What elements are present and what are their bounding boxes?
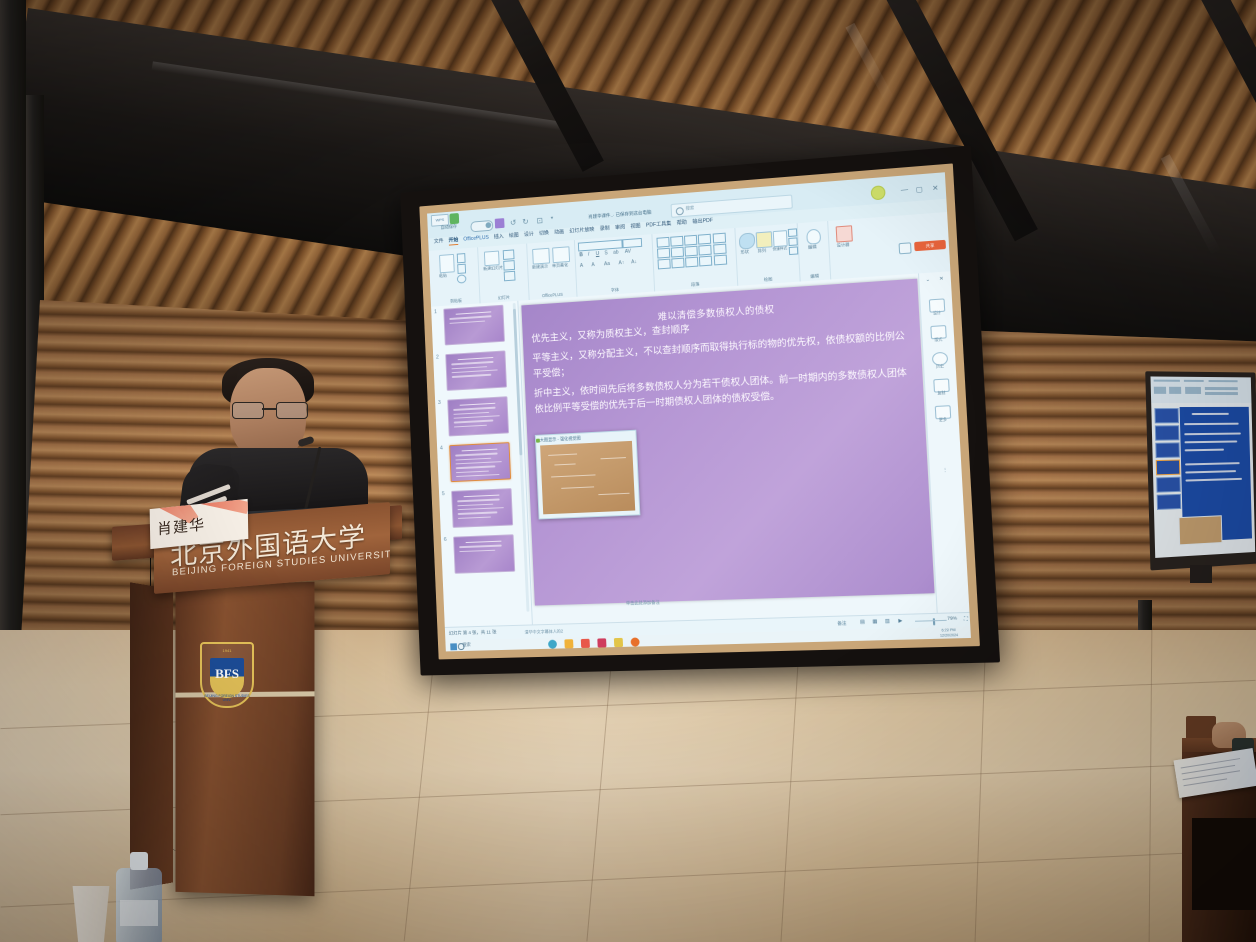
para-more-icon[interactable] (714, 255, 727, 266)
ribbon-group-drawing: 形状 排列 快速样式 绘图 (734, 223, 800, 286)
designer-label: 设计器 (836, 242, 849, 249)
minimize-button[interactable]: — (901, 186, 909, 194)
foreground-desk (1182, 716, 1256, 942)
slide-thumbnail-6[interactable] (453, 534, 515, 573)
cut-icon[interactable] (457, 253, 466, 263)
ribbon-tab-6[interactable]: 切换 (539, 229, 549, 237)
format-painter-icon[interactable] (457, 274, 467, 283)
monitor-overlay-image (1178, 515, 1222, 545)
zoom-slider-track[interactable] (915, 620, 947, 622)
slide-thumbnail-3[interactable] (447, 396, 509, 436)
screen-frame: WPS 自动保存 ↺ ↻ ⊡ ▾ 肖建华课件..· 已保存到这台电脑 (400, 146, 1000, 676)
thumbnail-number: 3 (438, 400, 441, 406)
emblem-caption: BEIJING FOREIGN STUDIES UNIV. (202, 694, 252, 702)
monitor-thumb (1155, 425, 1180, 441)
align-left-icon[interactable] (657, 248, 670, 259)
slide-thumbnail-1[interactable] (443, 305, 505, 346)
lecture-hall-scene: WPS 自动保存 ↺ ↻ ⊡ ▾ 肖建华课件..· 已保存到这台电脑 (0, 0, 1256, 942)
rail-label: 更多 (933, 417, 952, 423)
save-icon[interactable] (495, 218, 505, 228)
notes-toggle[interactable]: 备注 (837, 620, 846, 626)
ribbon-tab-9[interactable]: 录制 (599, 225, 609, 233)
autosave-label: 自动保存 (441, 224, 458, 231)
layout-icon[interactable] (503, 249, 515, 260)
slide-thumbnail-5[interactable] (451, 488, 513, 528)
bold-icon[interactable]: B (579, 252, 583, 258)
user-avatar[interactable] (871, 185, 886, 200)
paint-icon[interactable] (581, 638, 590, 647)
officeplus-a-label: 新建演示 (532, 264, 548, 271)
ribbon-tab-2[interactable]: OfficePLUS (463, 235, 489, 243)
text-highlight-icon[interactable]: A (580, 263, 583, 269)
emblem-letters: BFS (202, 666, 252, 682)
ribbon-group-paragraph: 段落 (651, 228, 738, 292)
underline-icon[interactable]: U (596, 251, 600, 257)
ribbon-tab-11[interactable]: 视图 (630, 222, 640, 230)
quickstyles-label: 快速样式 (773, 246, 788, 252)
shapes-label: 形状 (740, 249, 749, 256)
monitor-thumb (1155, 442, 1180, 458)
thumbnail-row[interactable]: 5 (439, 485, 528, 535)
taskbar-search-input[interactable]: 搜索 (462, 642, 471, 648)
notes-placeholder[interactable]: 单击此处添加备注 (626, 600, 660, 607)
screen-inner-border: WPS 自动保存 ↺ ↻ ⊡ ▾ 肖建华课件..· 已保存到这台电脑 (419, 163, 980, 659)
ribbon-group-font: B I U S ab AV A A Aa A↑ A↓ (574, 234, 655, 297)
new-slide-label: 新建幻灯片 (482, 265, 505, 271)
arrange-icon[interactable] (756, 231, 773, 248)
rail-close-icon[interactable]: ✕ (939, 276, 944, 282)
clear-format-icon[interactable]: A↓ (631, 259, 637, 265)
shape-effects-icon[interactable] (789, 246, 799, 255)
strikethrough-icon[interactable]: S (604, 250, 608, 256)
columns-icon[interactable] (713, 244, 726, 255)
monitor-ribbon (1150, 376, 1251, 403)
projection-screen: WPS 自动保存 ↺ ↻ ⊡ ▾ 肖建华课件..· 已保存到这台电脑 (398, 168, 978, 668)
image-preview-overlay[interactable]: 大图显示 - 强化视觉图 (535, 430, 641, 520)
share-button[interactable]: 共享 (914, 240, 946, 251)
editing-label: 编辑 (808, 244, 817, 251)
maximize-button[interactable]: ▢ (916, 185, 923, 194)
fit-to-window-icon[interactable]: ⛶ (964, 616, 968, 622)
present-icon[interactable]: ⊡ (536, 216, 543, 225)
ribbon-tab-13[interactable]: 帮助 (677, 219, 688, 227)
rail-label: 版式 (929, 337, 948, 343)
slide-thumbnail-4[interactable] (449, 442, 511, 482)
officeplus-new-icon[interactable] (532, 248, 550, 265)
rail-collapse-icon[interactable]: ⌄ (925, 277, 930, 283)
shape-fill-icon[interactable] (788, 228, 798, 237)
rail-label: 历史 (930, 364, 949, 370)
paste-icon[interactable] (439, 254, 455, 273)
powerpoint-window: WPS 自动保存 ↺ ↻ ⊡ ▾ 肖建华课件..· 已保存到这台电脑 (427, 172, 971, 651)
arrange-label: 排列 (757, 248, 766, 255)
emblem-shield-icon: 1941 BFS BEIJING FOREIGN STUDIES UNIV. (200, 642, 254, 708)
line-spacing-icon[interactable] (713, 233, 726, 244)
increase-font-icon[interactable]: A↑ (618, 260, 624, 266)
monitor-thumb (1156, 460, 1181, 476)
thumbnail-number: 4 (440, 446, 443, 452)
wechat-icon[interactable] (597, 638, 606, 647)
autosave-toggle[interactable] (470, 220, 493, 232)
ribbon-group-clipboard: 粘贴 剪贴板 (431, 247, 481, 306)
smartart-icon[interactable] (685, 257, 698, 268)
thumbnail-number: 5 (442, 491, 445, 497)
redo-icon[interactable]: ↻ (522, 217, 529, 226)
overlay-card-image (540, 441, 635, 514)
align-text-icon[interactable] (671, 258, 684, 269)
current-slide[interactable]: 难以清偿多数债权人的债权 优先主义，又称为质权主义，查封顺序 平等主义，又称分配… (521, 279, 934, 606)
copy-icon[interactable] (457, 264, 466, 274)
quickstyles-icon[interactable] (773, 230, 788, 247)
ribbon-tab-8[interactable]: 幻灯片放映 (569, 226, 594, 235)
font-size-box[interactable] (622, 238, 642, 248)
ribbon-group-designer: 设计器 (827, 219, 861, 280)
bullets-icon[interactable] (656, 237, 669, 248)
search-icon (676, 207, 684, 216)
find-icon[interactable] (806, 229, 821, 245)
thumbnail-row[interactable]: 1 (431, 301, 519, 352)
comments-button[interactable] (899, 242, 912, 254)
ribbon-tab-12[interactable]: PDF工具集 (646, 220, 672, 229)
numbering-icon[interactable] (670, 236, 683, 247)
shape-outline-icon[interactable] (788, 237, 798, 246)
more-commands-icon[interactable]: ▾ (551, 215, 554, 221)
confidence-monitor (1148, 372, 1256, 567)
ribbon-tab-1[interactable]: 开始 (448, 236, 458, 245)
officeplus-beautify-icon[interactable] (552, 246, 570, 263)
bottle-cap (130, 852, 148, 870)
slide-counter[interactable]: 幻灯片 第 4 张，共 11 张 (449, 629, 497, 636)
ribbon-group-officeplus: 新建演示 单页美化 OfficePLUS (526, 240, 577, 300)
undo-icon[interactable]: ↺ (510, 218, 517, 227)
thumbnail-row[interactable]: 4 (437, 438, 526, 488)
water-bottle (112, 848, 166, 942)
officeplus-b-label: 单页美化 (552, 262, 568, 269)
increase-indent-icon[interactable] (698, 234, 711, 245)
decrease-indent-icon[interactable] (684, 235, 697, 246)
bottle-label (120, 900, 158, 926)
shadow-icon[interactable]: ab (613, 250, 619, 256)
monitor-stand (1190, 565, 1212, 583)
autosave-badge-icon (449, 213, 459, 224)
ribbon-tab-3[interactable]: 插入 (494, 233, 504, 241)
screen-surface: WPS 自动保存 ↺ ↻ ⊡ ▾ 肖建华课件..· 已保存到这台电脑 (427, 172, 971, 651)
monitor-thumb (1157, 494, 1182, 510)
rail-scroll-handle[interactable]: ⋮ (942, 467, 948, 473)
search-placeholder: 搜索 (685, 205, 694, 212)
thumbnail-number: 2 (436, 355, 439, 361)
align-center-icon[interactable] (671, 247, 684, 258)
lectern-body (175, 582, 314, 896)
justify-icon[interactable] (698, 245, 711, 256)
monitor-thumb (1156, 477, 1181, 493)
normal-view-icon[interactable]: ▤ (860, 619, 865, 625)
tray-date[interactable]: 12/20/2024 (940, 633, 958, 638)
thumbnail-row[interactable]: 2 (433, 347, 521, 398)
monitor-bezel (1145, 371, 1256, 570)
thumbnail-row[interactable]: 6 (441, 531, 530, 580)
ribbon-tab-5[interactable]: 设计 (524, 230, 534, 238)
overlay-card-title: 大图显示 - 强化视觉图 (540, 436, 581, 444)
list-level-icon[interactable] (699, 256, 712, 267)
thumbnail-number: 6 (444, 537, 447, 543)
document-title[interactable]: 肖建华课件..· 已保存到这台电脑 (588, 210, 651, 221)
lectern: 北京外国语大学 BEIJING FOREIGN STUDIES UNIVERSI… (112, 498, 412, 898)
ribbon-group-editing: 编辑 编辑 (797, 221, 832, 282)
monitor-screen (1150, 376, 1255, 557)
slideshow-icon[interactable]: ▶ (898, 618, 902, 624)
slide-canvas-area: 难以清偿多数债权人的债权 优先主义，又称为质权主义，查封顺序 平等主义，又称分配… (519, 275, 937, 611)
align-right-icon[interactable] (685, 246, 698, 257)
speaker-name: 肖建华 (157, 513, 205, 539)
char-spacing-icon[interactable]: AV (625, 249, 631, 255)
folder-icon[interactable] (614, 637, 623, 646)
rail-label: 设计 (927, 311, 946, 317)
monitor-thumb (1154, 408, 1179, 423)
slide-sorter-icon[interactable]: ▦ (872, 619, 877, 625)
text-direction-icon[interactable] (658, 259, 671, 270)
section-icon[interactable] (504, 271, 516, 282)
slide-thumbnail-pane[interactable]: 123456 (431, 301, 533, 628)
emblem-year: 1941 (202, 648, 252, 653)
edge-icon[interactable] (548, 639, 557, 648)
change-case-icon[interactable]: Aa (604, 261, 610, 267)
ribbon-tab-10[interactable]: 审阅 (615, 223, 625, 231)
paste-label: 粘贴 (439, 273, 447, 279)
ribbon-tab-7[interactable]: 动画 (554, 228, 564, 236)
status-language[interactable]: 清华中文字幕体人的2 (524, 628, 563, 635)
editor-workarea: 123456 难以清偿多数债权人的债权 优先主义，又称为质权主义，查封顺序 平等… (431, 271, 969, 628)
windows-start-icon[interactable] (450, 643, 457, 650)
shapes-icon[interactable] (739, 232, 756, 249)
wps-icon[interactable] (630, 637, 639, 646)
thumbnail-row[interactable]: 3 (435, 392, 524, 442)
lectern-side (130, 582, 173, 889)
ribbon-tab-4[interactable]: 绘图 (509, 232, 519, 240)
slide-thumbnail-2[interactable] (445, 350, 507, 391)
zoom-level[interactable]: 79% (947, 615, 957, 620)
wall-pillar-left (0, 0, 26, 640)
font-color-icon[interactable]: A (591, 262, 595, 268)
explorer-icon[interactable] (564, 639, 573, 648)
italic-icon[interactable]: I (588, 252, 590, 258)
rail-label: 复制 (932, 391, 951, 397)
new-slide-icon[interactable] (484, 251, 500, 267)
ribbon-tab-0[interactable]: 文件 (434, 237, 444, 244)
thumbnail-number: 1 (434, 309, 437, 315)
reset-icon[interactable] (503, 260, 515, 271)
presenter-glasses (232, 402, 306, 417)
university-emblem: 1941 BFS BEIJING FOREIGN STUDIES UNIV. (200, 642, 254, 708)
designer-icon[interactable] (836, 225, 853, 242)
desk-panel (1192, 818, 1256, 910)
ribbon-group-slides: 新建幻灯片 幻灯片 (477, 244, 530, 304)
reading-view-icon[interactable]: ▥ (885, 618, 890, 624)
ribbon-tab-14[interactable]: 输出PDF (692, 217, 713, 226)
close-button[interactable]: ✕ (932, 184, 939, 193)
